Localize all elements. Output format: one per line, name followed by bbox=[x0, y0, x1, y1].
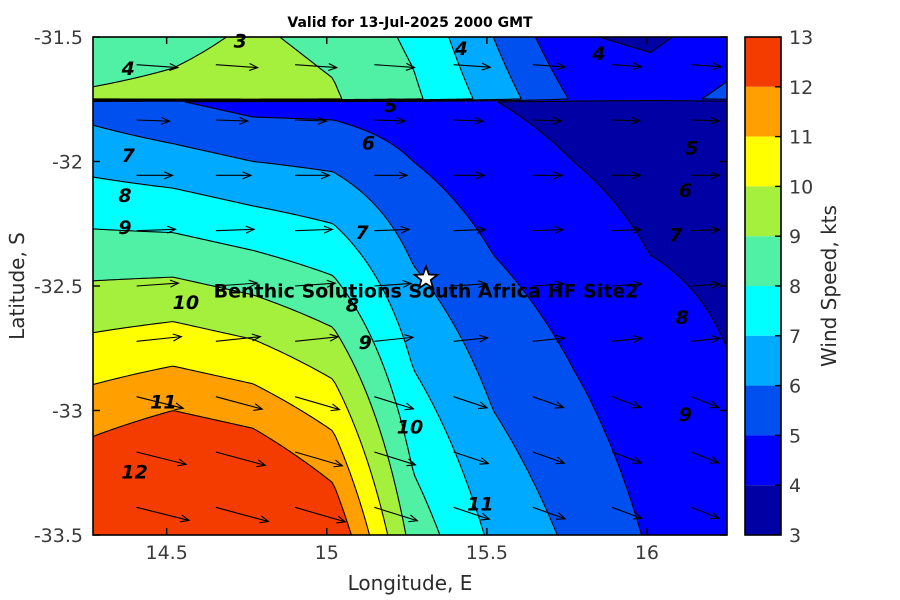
colorbar-tick-label: 6 bbox=[789, 376, 801, 398]
x-tick-label: 14.5 bbox=[145, 542, 187, 564]
plot-canvas: 344455667778889991010111112 Benthic Solu… bbox=[0, 0, 900, 600]
colorbar-tick-label: 4 bbox=[789, 475, 801, 497]
contour-label: 4 bbox=[121, 58, 135, 80]
colorbar-tick-label: 9 bbox=[789, 226, 801, 248]
contour-label: 4 bbox=[591, 43, 605, 65]
colorbar-band bbox=[745, 87, 781, 137]
colorbar-tick-label: 12 bbox=[789, 77, 813, 99]
x-axis-title: Longitude, E bbox=[348, 571, 473, 595]
colorbar-band bbox=[745, 236, 781, 286]
contour-label: 5 bbox=[685, 138, 698, 160]
x-tick-label: 15 bbox=[315, 542, 339, 564]
contour-label: 7 bbox=[669, 225, 683, 247]
y-tick-label: -31.5 bbox=[34, 27, 83, 49]
colorbar-band bbox=[745, 286, 781, 336]
contour-label: 11 bbox=[150, 392, 176, 414]
colorbar-band bbox=[745, 186, 781, 236]
y-tick-label: -33.5 bbox=[34, 525, 83, 547]
contour-label: 9 bbox=[679, 404, 692, 426]
contour-label: 3 bbox=[234, 31, 247, 53]
contour-label: 12 bbox=[121, 461, 147, 483]
colorbar-tick-label: 10 bbox=[789, 176, 813, 198]
colorbar-tick-label: 3 bbox=[789, 525, 801, 547]
page-title: Valid for 13-Jul-2025 2000 GMT bbox=[287, 15, 533, 31]
x-tick-label: 15.5 bbox=[466, 542, 508, 564]
contour-label: 10 bbox=[397, 416, 423, 438]
contour-label: 8 bbox=[676, 307, 689, 329]
contour-label: 8 bbox=[118, 185, 131, 207]
site-label: Benthic Solutions South Africa HF Site2 bbox=[214, 281, 639, 303]
x-tick-label: 16 bbox=[635, 542, 659, 564]
wind-speed-contour-figure: 344455667778889991010111112 Benthic Solu… bbox=[0, 0, 900, 600]
y-tick-label: -33 bbox=[52, 401, 83, 423]
colorbar-band bbox=[745, 137, 781, 187]
colorbar-band bbox=[745, 336, 781, 386]
colorbar-tick-label: 8 bbox=[789, 276, 801, 298]
y-tick-label: -32.5 bbox=[34, 276, 83, 298]
colorbar-band bbox=[745, 435, 781, 485]
contour-label: 9 bbox=[359, 332, 372, 354]
colorbar-title: Wind Speed, kts bbox=[817, 205, 841, 367]
contour-label: 7 bbox=[122, 145, 136, 167]
contour-label: 6 bbox=[362, 133, 375, 155]
colorbar-tick-label: 13 bbox=[789, 27, 813, 49]
y-axis-title: Latitude, S bbox=[5, 232, 29, 340]
contour-label: 9 bbox=[118, 217, 131, 239]
contour-label: 11 bbox=[467, 494, 493, 516]
colorbar-tick-label: 5 bbox=[789, 425, 801, 447]
y-tick-label: -32 bbox=[52, 152, 83, 174]
contour-label: 7 bbox=[355, 222, 369, 244]
contour-label: 6 bbox=[679, 180, 692, 202]
colorbar-tick-label: 11 bbox=[789, 127, 813, 149]
colorbar-tick-label: 7 bbox=[789, 326, 801, 348]
colorbar: 131211109876543 bbox=[745, 27, 813, 547]
colorbar-band bbox=[745, 485, 781, 535]
colorbar-band bbox=[745, 37, 781, 87]
contour-label: 4 bbox=[454, 38, 468, 60]
contour-label: 5 bbox=[384, 95, 397, 117]
colorbar-band bbox=[745, 386, 781, 436]
contour-label: 10 bbox=[173, 292, 199, 314]
